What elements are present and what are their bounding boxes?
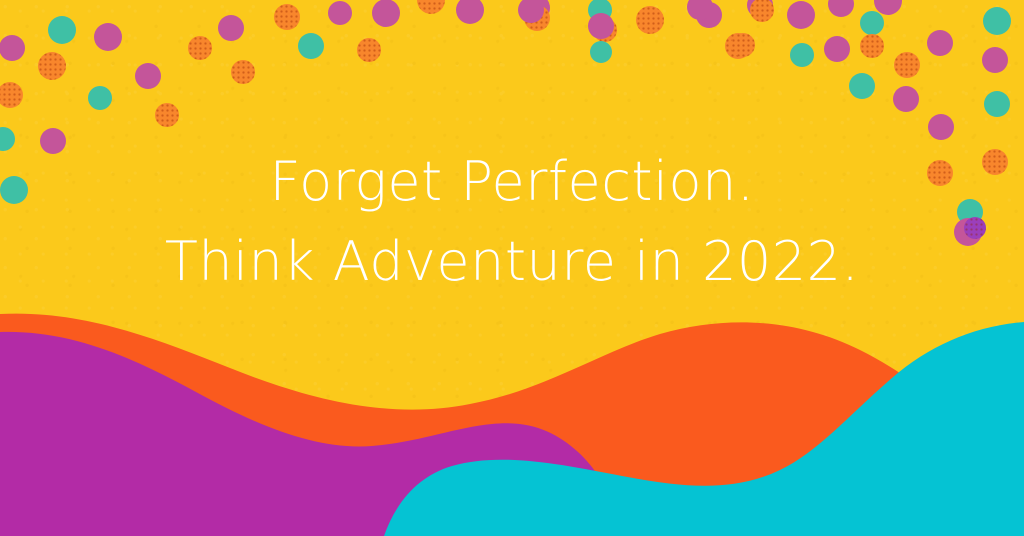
promotional-banner: Forget Perfection. Think Adventure in 20… — [0, 0, 1024, 536]
headline-line-2: Think Adventure in 2022. — [0, 222, 1024, 302]
headline-line-1: Forget Perfection. — [0, 142, 1024, 222]
headline: Forget Perfection. Think Adventure in 20… — [0, 142, 1024, 302]
